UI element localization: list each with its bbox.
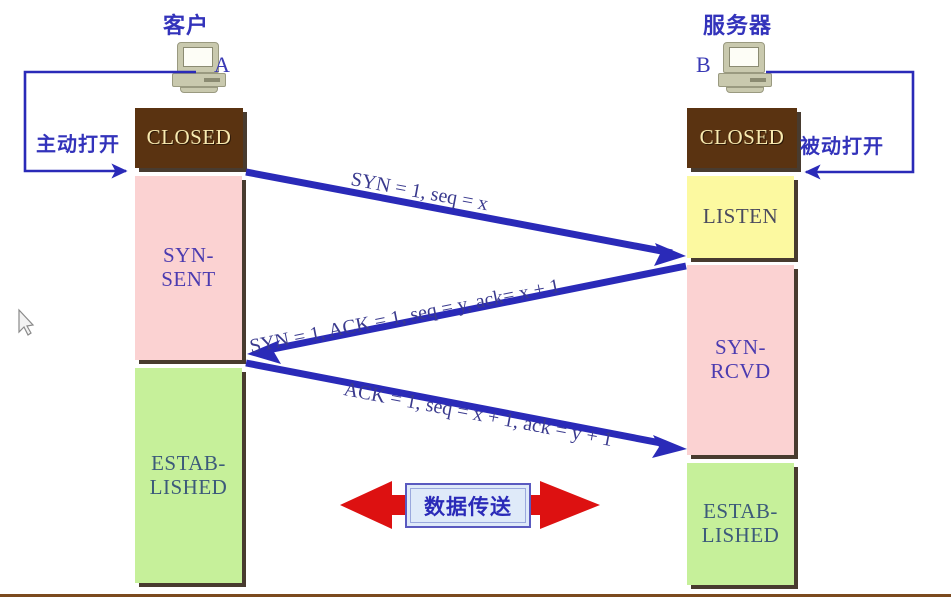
client-state-established-label: ESTAB- LISHED: [150, 452, 228, 499]
monitor-screen: [729, 47, 759, 67]
tcp-handshake-diagram: 客户 A 服务器 B CLOSED SYN- SENT ESTAB- LISHE…: [0, 0, 951, 597]
segment-label-ack: ACK = 1, seq = x + 1, ack = y + 1: [342, 378, 615, 452]
monitor-screen: [183, 47, 213, 67]
server-state-listen: LISTEN: [687, 176, 794, 258]
established-line2: LISHED: [702, 523, 780, 547]
arrow-syn: [246, 172, 686, 266]
client-state-closed: CLOSED: [135, 108, 243, 168]
server-computer-icon: [714, 42, 776, 94]
segment-label-syn: SYN = 1, seq = x: [349, 168, 490, 216]
server-state-established: ESTAB- LISHED: [687, 463, 794, 585]
syn-sent-line2: SENT: [161, 267, 216, 291]
syn-rcvd-line1: SYN-: [715, 335, 766, 359]
client-state-syn-sent-label: SYN- SENT: [161, 244, 216, 291]
syn-rcvd-line2: RCVD: [710, 359, 770, 383]
data-transfer-box: 数据传送: [405, 483, 531, 528]
data-transfer-inner-frame: 数据传送: [410, 488, 526, 523]
established-line1: ESTAB-: [151, 451, 226, 475]
server-state-closed-label: CLOSED: [700, 126, 785, 150]
mouse-cursor: [19, 310, 33, 335]
server-state-listen-label: LISTEN: [703, 205, 778, 229]
client-state-established: ESTAB- LISHED: [135, 368, 242, 583]
server-state-syn-rcvd-label: SYN- RCVD: [710, 336, 770, 383]
stand-foot: [180, 87, 218, 93]
server-state-closed: CLOSED: [687, 108, 797, 168]
client-state-closed-label: CLOSED: [147, 126, 232, 150]
established-line1: ESTAB-: [703, 499, 778, 523]
client-active-open-label: 主动打开: [36, 128, 120, 157]
server-state-established-label: ESTAB- LISHED: [702, 500, 780, 547]
syn-sent-line1: SYN-: [163, 243, 214, 267]
server-passive-open-label: 被动打开: [800, 130, 884, 159]
server-id-label: B: [696, 52, 711, 78]
client-state-syn-sent: SYN- SENT: [135, 176, 242, 360]
server-state-syn-rcvd: SYN- RCVD: [687, 265, 794, 455]
stand-foot: [726, 87, 764, 93]
established-line2: LISHED: [150, 475, 228, 499]
client-id-label: A: [214, 52, 230, 78]
client-title: 客户: [163, 8, 209, 40]
segment-label-syn-ack: SYN = 1, ACK = 1, seq = y, ack= x + 1: [248, 275, 562, 359]
data-transfer-label: 数据传送: [424, 491, 512, 521]
drive-slot: [204, 78, 220, 82]
drive-slot: [750, 78, 766, 82]
server-title: 服务器: [703, 8, 772, 40]
